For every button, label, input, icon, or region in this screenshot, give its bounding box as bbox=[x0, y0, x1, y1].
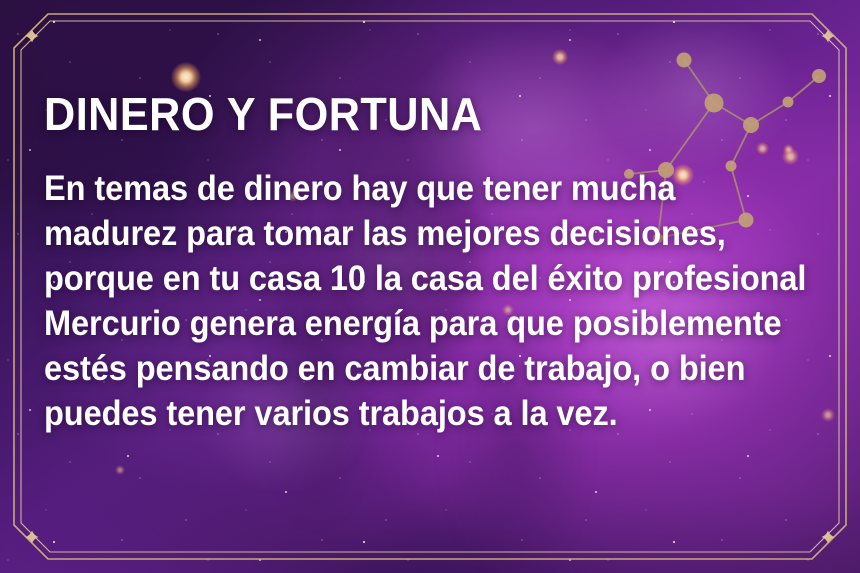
page-title: DINERO Y FORTUNA bbox=[44, 88, 760, 140]
star-top-right bbox=[812, 69, 826, 83]
sparkle-top-right-icon bbox=[822, 30, 835, 43]
sparkle-bottom-left-icon bbox=[26, 531, 39, 544]
text-content: DINERO Y FORTUNA En temas de dinero hay … bbox=[44, 88, 806, 436]
star-top-left bbox=[677, 53, 692, 68]
glow-star-10 bbox=[115, 465, 125, 475]
horoscope-card: DINERO Y FORTUNA En temas de dinero hay … bbox=[0, 0, 860, 573]
sparkle-bottom-right-icon bbox=[822, 531, 835, 544]
glow-star-2 bbox=[552, 49, 568, 65]
glow-star-9 bbox=[821, 408, 835, 422]
body-paragraph: En temas de dinero hay que tener mucha m… bbox=[44, 166, 807, 436]
sparkle-top-left-icon bbox=[26, 30, 39, 43]
